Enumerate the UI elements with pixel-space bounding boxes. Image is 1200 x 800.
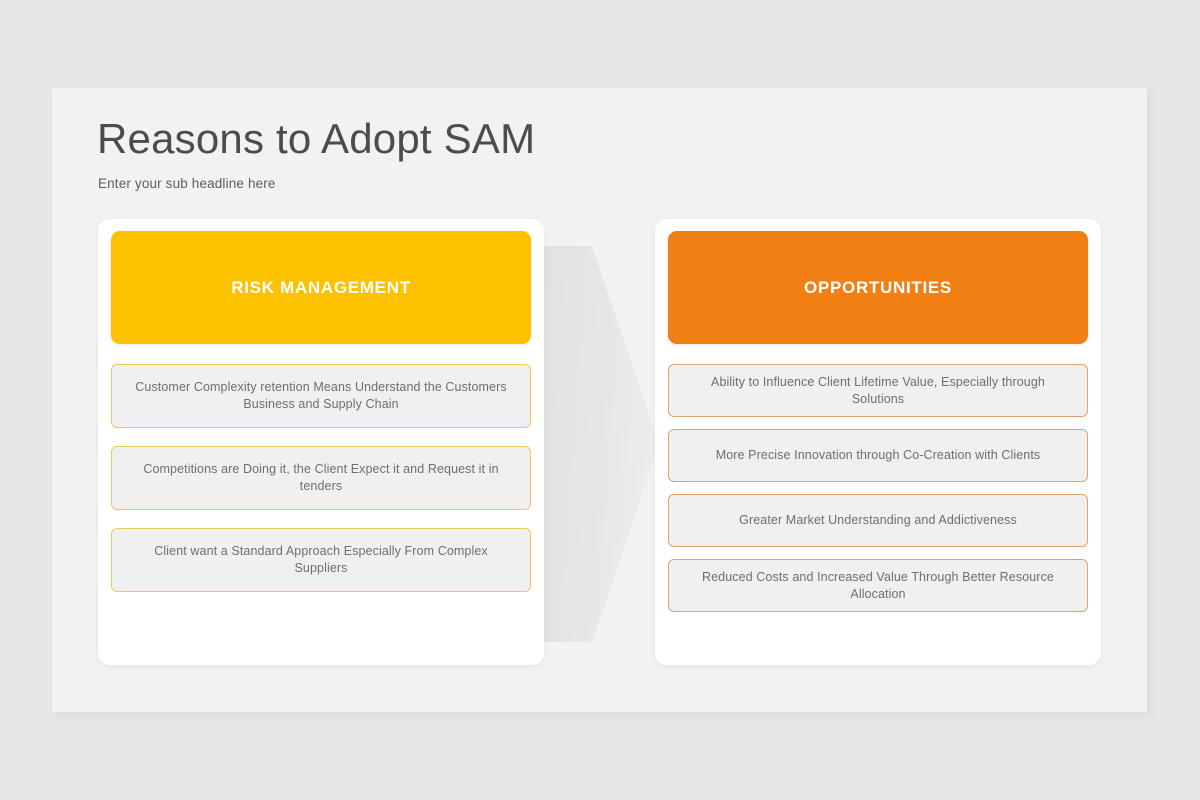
right-chevron-arrow [544,246,659,642]
item-list-opportunities: Ability to Influence Client Lifetime Val… [668,364,1088,624]
list-item[interactable]: Reduced Costs and Increased Value Throug… [668,559,1088,612]
list-item-text: Greater Market Understanding and Addicti… [739,512,1017,529]
column-header-risk-management[interactable]: RISK MANAGEMENT [111,231,531,344]
column-header-opportunities[interactable]: OPPORTUNITIES [668,231,1088,344]
page-subtitle: Enter your sub headline here [98,176,276,191]
right-chevron-arrow-svg [544,246,659,642]
column-header-label: OPPORTUNITIES [804,278,952,298]
list-item[interactable]: Ability to Influence Client Lifetime Val… [668,364,1088,417]
slide-canvas: Reasons to Adopt SAM Enter your sub head… [52,88,1147,712]
column-header-label: RISK MANAGEMENT [231,278,411,298]
list-item-text: More Precise Innovation through Co-Creat… [716,447,1041,464]
item-list-risk-management: Customer Complexity retention Means Unde… [111,364,531,610]
list-item[interactable]: Client want a Standard Approach Especial… [111,528,531,592]
page-title: Reasons to Adopt SAM [97,113,535,165]
list-item[interactable]: Customer Complexity retention Means Unde… [111,364,531,428]
list-item[interactable]: More Precise Innovation through Co-Creat… [668,429,1088,482]
column-opportunities: OPPORTUNITIES Ability to Influence Clien… [655,219,1101,665]
list-item-text: Competitions are Doing it, the Client Ex… [128,461,514,495]
column-risk-management: RISK MANAGEMENT Customer Complexity rete… [98,219,544,665]
list-item[interactable]: Competitions are Doing it, the Client Ex… [111,446,531,510]
list-item-text: Ability to Influence Client Lifetime Val… [685,374,1071,408]
list-item-text: Client want a Standard Approach Especial… [128,543,514,577]
list-item[interactable]: Greater Market Understanding and Addicti… [668,494,1088,547]
list-item-text: Reduced Costs and Increased Value Throug… [685,569,1071,603]
list-item-text: Customer Complexity retention Means Unde… [128,379,514,413]
